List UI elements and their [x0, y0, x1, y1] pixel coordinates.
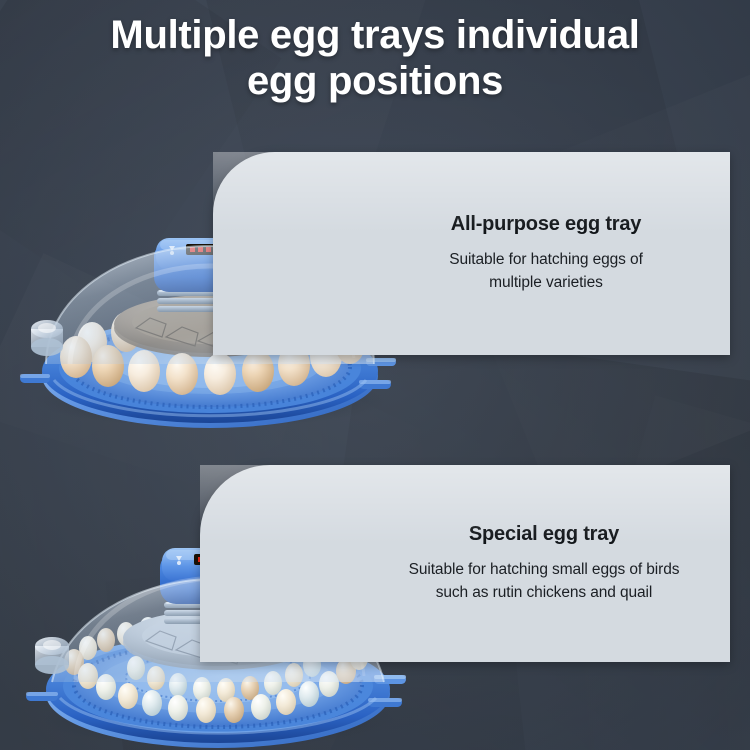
feature-card-body: Suitable for hatching small eggs of bird… [409, 559, 680, 604]
feature-card-body-line-2: multiple varieties [489, 274, 603, 291]
page-title: Multiple egg trays individual egg positi… [0, 12, 750, 105]
feature-card-body: Suitable for hatching eggs of multiple v… [449, 249, 643, 294]
feature-card-content: Special egg tray Suitable for hatching s… [364, 465, 724, 662]
page-title-line-2: egg positions [0, 58, 750, 104]
water-fill-cap [31, 320, 63, 356]
feature-card-content: All-purpose egg tray Suitable for hatchi… [376, 152, 716, 355]
side-latch-tab-left [20, 374, 50, 383]
side-latch-tab-left [26, 692, 58, 701]
feature-card-body-line-1: Suitable for hatching small eggs of bird… [409, 561, 680, 578]
page-title-line-1: Multiple egg trays individual [0, 12, 750, 58]
feature-card-body-line-1: Suitable for hatching eggs of [449, 251, 643, 268]
feature-card-all-purpose: All-purpose egg tray Suitable for hatchi… [213, 152, 730, 355]
feature-card-special: Special egg tray Suitable for hatching s… [200, 465, 730, 662]
water-fill-cap [35, 637, 69, 674]
feature-card-body-line-2: such as rutin chickens and quail [436, 584, 653, 601]
poster-canvas: Multiple egg trays individual egg positi… [0, 0, 750, 750]
feature-card-title: Special egg tray [469, 523, 619, 546]
feature-card-title: All-purpose egg tray [451, 213, 641, 236]
